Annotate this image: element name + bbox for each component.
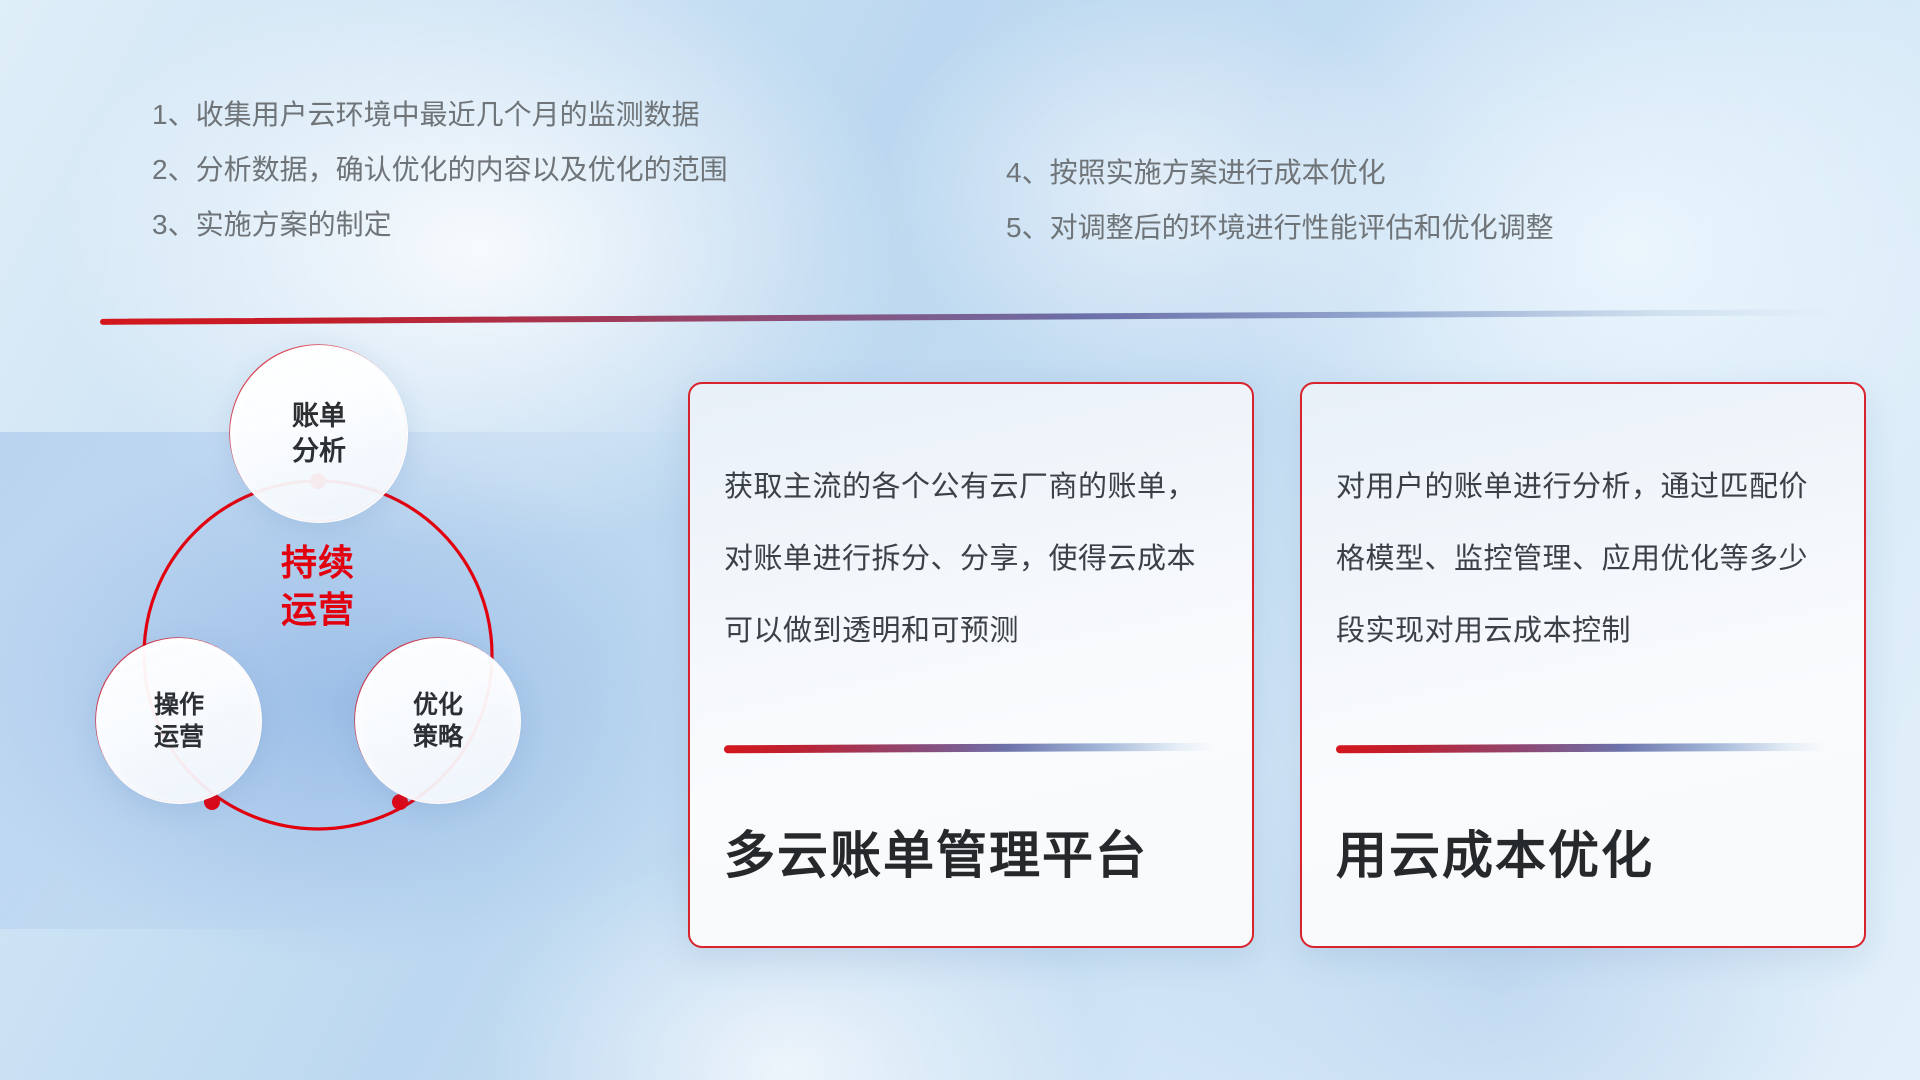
step-item: 1、收集用户云环境中最近几个月的监测数据 <box>152 101 728 129</box>
step-item: 5、对调整后的环境进行性能评估和优化调整 <box>1006 214 1554 242</box>
card-title: 用云成本优化 <box>1336 814 1840 888</box>
center-label-line2: 运营 <box>218 587 418 634</box>
card-body-text: 对用户的账单进行分析，通过匹配价格模型、监控管理、应用优化等多少段实现对用云成本… <box>1336 452 1836 668</box>
card-divider-line <box>724 743 1214 754</box>
center-label-line1: 持续 <box>218 540 418 587</box>
diagram-node-label: 优化 策略 <box>413 689 463 753</box>
node-label-line2: 分析 <box>292 436 346 466</box>
node-label-line1: 账单 <box>292 401 346 431</box>
feature-card-cost-optimization[interactable]: 对用户的账单进行分析，通过匹配价格模型、监控管理、应用优化等多少段实现对用云成本… <box>1300 382 1866 948</box>
step-item: 3、实施方案的制定 <box>152 211 728 239</box>
node-label-line1: 优化 <box>413 691 463 719</box>
diagram-node-label: 账单 分析 <box>292 399 346 468</box>
card-divider-line <box>1336 743 1826 754</box>
diagram-node-optimization-strategy[interactable]: 优化 策略 <box>355 638 521 804</box>
node-label-line2: 策略 <box>413 723 463 751</box>
step-item: 2、分析数据，确认优化的内容以及优化的范围 <box>152 156 728 184</box>
node-label-line2: 运营 <box>154 723 204 751</box>
step-item: 4、按照实施方案进行成本优化 <box>1006 159 1554 187</box>
steps-list-right: 4、按照实施方案进行成本优化 5、对调整后的环境进行性能评估和优化调整 <box>1006 159 1554 269</box>
diagram-node-bill-analysis[interactable]: 账单 分析 <box>230 345 408 523</box>
continuous-operation-diagram: 账单 分析 操作 运营 优化 策略 持续 运营 <box>100 350 630 950</box>
feature-card-multicloud-billing[interactable]: 获取主流的各个公有云厂商的账单，对账单进行拆分、分享，使得云成本可以做到透明和可… <box>688 382 1254 948</box>
card-body-text: 获取主流的各个公有云厂商的账单，对账单进行拆分、分享，使得云成本可以做到透明和可… <box>724 452 1224 668</box>
card-title: 多云账单管理平台 <box>724 814 1228 888</box>
diagram-center-label: 持续 运营 <box>218 540 418 634</box>
diagram-node-operations[interactable]: 操作 运营 <box>96 638 262 804</box>
steps-list-left: 1、收集用户云环境中最近几个月的监测数据 2、分析数据，确认优化的内容以及优化的… <box>152 101 728 266</box>
diagram-node-label: 操作 运营 <box>154 689 204 753</box>
node-label-line1: 操作 <box>154 691 204 719</box>
